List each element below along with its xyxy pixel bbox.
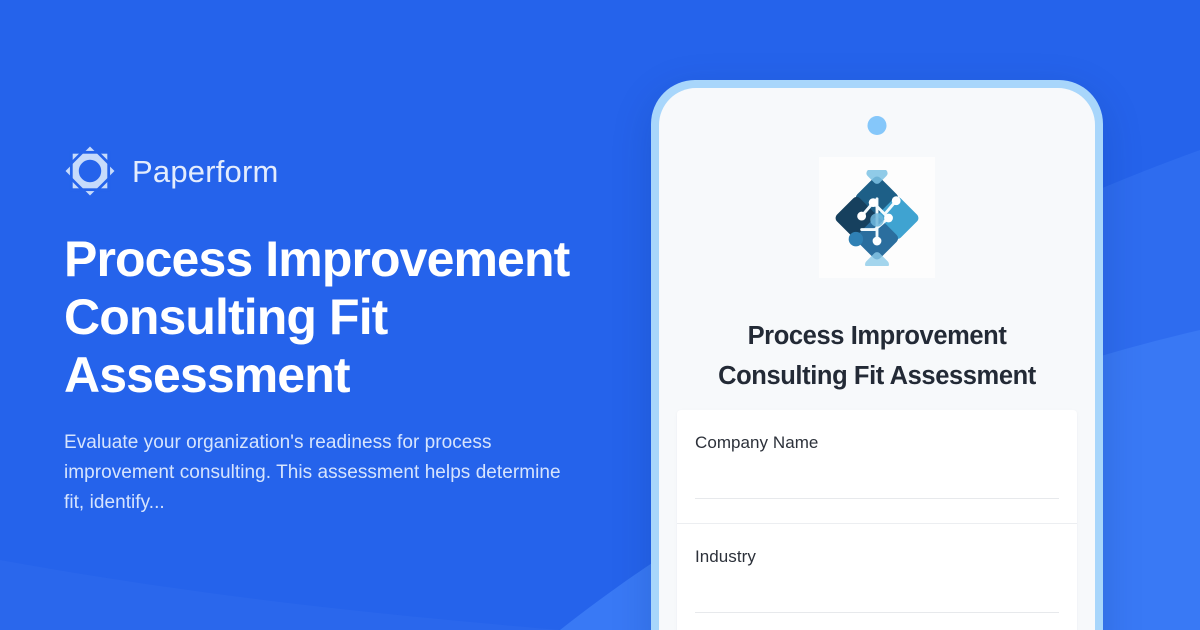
form-field-company-name[interactable]: Company Name — [677, 410, 1077, 524]
phone-mockup: Process Improvement Consulting Fit Asses… — [651, 80, 1103, 630]
network-nodes-logo-icon — [829, 170, 925, 266]
background-wedge-left — [0, 560, 560, 630]
camera-dot-icon — [868, 116, 887, 135]
page-title: Process Improvement Consulting Fit Asses… — [64, 230, 604, 404]
og-image-canvas: Paperform Process Improvement Consulting… — [0, 0, 1200, 630]
company-name-input[interactable] — [695, 498, 1059, 499]
phone-screen: Process Improvement Consulting Fit Asses… — [659, 88, 1095, 630]
field-label: Company Name — [695, 432, 1059, 454]
form-card: Company Name Industry — [677, 410, 1077, 630]
form-title: Process Improvement Consulting Fit Asses… — [685, 316, 1069, 396]
field-label: Industry — [695, 546, 1059, 568]
form-field-industry[interactable]: Industry — [677, 524, 1077, 630]
form-logo-container — [819, 157, 935, 278]
brand-lockup: Paperform — [64, 140, 624, 202]
industry-input[interactable] — [695, 612, 1059, 613]
brand-name: Paperform — [132, 156, 279, 187]
paperform-starburst-icon — [64, 145, 116, 197]
hero-content: Paperform Process Improvement Consulting… — [64, 140, 624, 518]
page-description: Evaluate your organization's readiness f… — [64, 428, 569, 518]
